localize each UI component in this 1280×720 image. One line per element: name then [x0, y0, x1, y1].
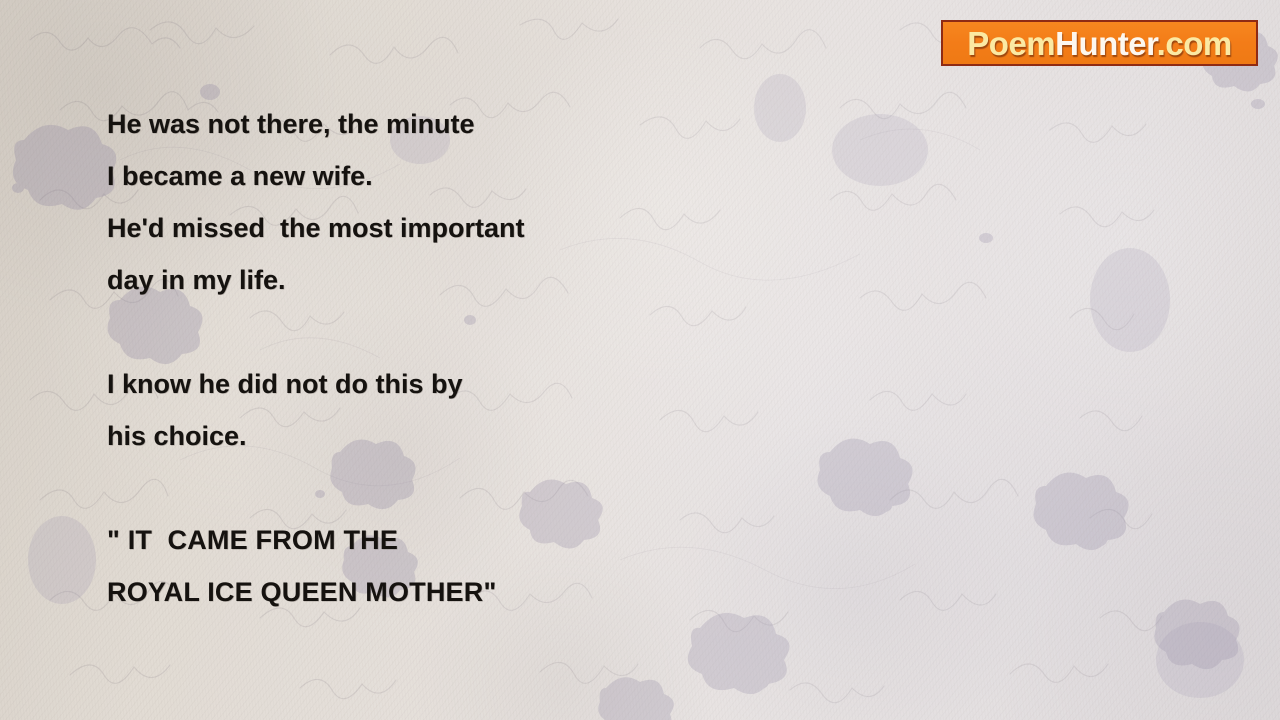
poem-line: day in my life.	[107, 254, 1007, 306]
stanza-gap	[107, 306, 1007, 358]
logo-word-domain: .com	[1157, 25, 1232, 62]
poem-text-block: He was not there, the minute I became a …	[107, 98, 1007, 618]
poem-line: ROYAL ICE QUEEN MOTHER"	[107, 566, 1007, 618]
poem-line: " IT CAME FROM THE	[107, 514, 1007, 566]
stanza-gap	[107, 462, 1007, 514]
poem-line: I know he did not do this by	[107, 358, 1007, 410]
poem-line: He was not there, the minute	[107, 98, 1007, 150]
logo-wordmark: PoemHunter.com	[967, 27, 1231, 60]
poem-image-canvas: PoemHunter.com He was not there, the min…	[0, 0, 1280, 720]
logo-word-hunter: Hunter	[1055, 25, 1157, 62]
poemhunter-logo[interactable]: PoemHunter.com	[941, 20, 1258, 66]
poem-line: his choice.	[107, 410, 1007, 462]
logo-word-poem: Poem	[967, 25, 1055, 62]
poem-line: I became a new wife.	[107, 150, 1007, 202]
poem-line: He'd missed the most important	[107, 202, 1007, 254]
